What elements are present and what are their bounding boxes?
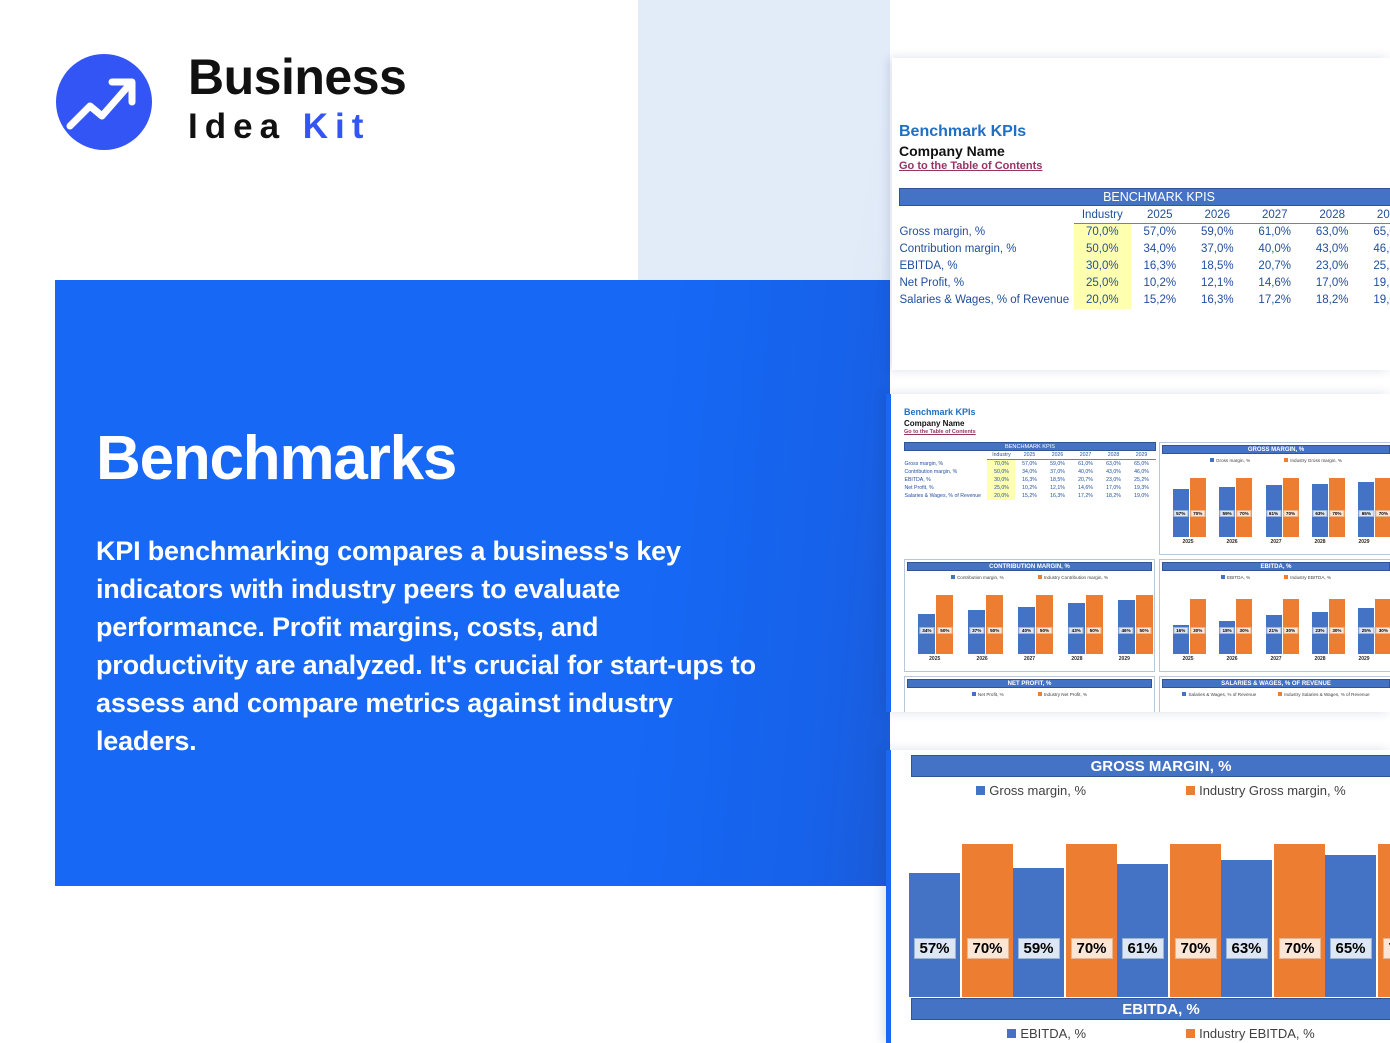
kpi-column-header-2029: 2029: [1127, 452, 1155, 460]
chart-x-tick: 2028: [1298, 539, 1342, 545]
chart-data-label: 70%: [1174, 938, 1216, 959]
kpi-row[interactable]: Net Profit, %25,0%10,2%12,1%14,6%17,0%19…: [905, 484, 1156, 492]
legend-swatch-company: [1007, 1029, 1016, 1038]
chart-data-label: 30%: [1190, 627, 1205, 634]
chart-title: GROSS MARGIN, %: [911, 755, 1390, 777]
chart-group: 23%30%: [1305, 588, 1351, 654]
kpi-cell-value[interactable]: 20,7%: [1246, 258, 1303, 275]
legend-item-industry: Industry Contribution margin, %: [1038, 575, 1108, 580]
chart-bar-company[interactable]: 59%: [1013, 868, 1064, 997]
chart-data-label: 30%: [1376, 627, 1390, 634]
chart-x-tick: 2027: [1254, 539, 1298, 545]
chart-data-label: 37%: [969, 627, 984, 634]
chart-bar-company[interactable]: 63%: [1221, 860, 1272, 997]
chart-bar-company[interactable]: 57%: [1173, 489, 1189, 537]
sheet-subtitle-top: Company Name: [899, 143, 1005, 159]
legend-swatch-industry: [1284, 458, 1288, 462]
chart-bar-industry[interactable]: 70%: [1274, 844, 1325, 997]
chart-data-label: 59%: [1220, 510, 1235, 517]
kpi-row[interactable]: Net Profit, %25,0%10,2%12,1%14,6%17,0%19…: [900, 275, 1390, 292]
kpi-cell-value[interactable]: 46,0%: [1127, 468, 1155, 476]
brand-line-2-accent: Kit: [303, 107, 371, 146]
kpi-cell-industry[interactable]: 70,0%: [1074, 224, 1131, 241]
kpi-row[interactable]: EBITDA, %30,0%16,3%18,5%20,7%23,0%25,2%: [900, 258, 1390, 275]
chart-legend: Gross margin, %Industry Gross margin, %: [1160, 456, 1390, 464]
kpi-row[interactable]: Salaries & Wages, % of Revenue20,0%15,2%…: [905, 492, 1156, 500]
legend-swatch-company: [976, 786, 985, 795]
kpi-cell-value[interactable]: 20,7%: [1071, 476, 1099, 484]
kpi-cell-value[interactable]: 17,2%: [1246, 292, 1303, 309]
spreadsheet-panel-top[interactable]: Benchmark KPIs Company Name Go to the Ta…: [892, 58, 1390, 370]
chart-title: SALARIES & WAGES, % OF REVENUE: [1162, 679, 1390, 688]
kpi-cell-value[interactable]: 57,0%: [1015, 460, 1043, 468]
kpi-cell-value[interactable]: 43,0%: [1303, 241, 1360, 258]
kpi-header-row: Industry20252026202720282029: [905, 452, 1156, 460]
legend-swatch-industry: [1278, 692, 1282, 696]
chart-bar-company[interactable]: 43%: [1068, 603, 1085, 654]
legend-swatch-company: [1210, 458, 1214, 462]
kpi-row[interactable]: Salaries & Wages, % of Revenue20,0%15,2%…: [900, 292, 1390, 309]
legend-swatch-industry: [1186, 1029, 1195, 1038]
legend-label: Industry EBITDA, %: [1199, 1026, 1315, 1041]
chart-bar-company[interactable]: 18%: [1219, 621, 1235, 654]
kpi-row-label: Gross margin, %: [900, 224, 1074, 241]
kpi-row[interactable]: Gross margin, %70,0%57,0%59,0%61,0%63,0%…: [905, 460, 1156, 468]
kpi-cell-value[interactable]: 37,0%: [1043, 468, 1071, 476]
kpi-cell-value[interactable]: 15,2%: [1131, 292, 1188, 309]
legend-label: Gross margin, %: [989, 783, 1086, 798]
kpi-cell-value[interactable]: 17,0%: [1099, 484, 1127, 492]
chart-data-label: 65%: [1359, 510, 1374, 517]
kpi-column-header-2025: 2025: [1131, 207, 1188, 224]
chart-data-label: 21%: [1266, 627, 1281, 634]
kpi-cell-value[interactable]: 40,0%: [1071, 468, 1099, 476]
chart-data-label: 70%: [1237, 510, 1252, 517]
chart-legend: EBITDA, %Industry EBITDA, %: [901, 1024, 1390, 1042]
chart-x-axis: 20252026202720282029: [1166, 656, 1386, 662]
kpi-cell-value[interactable]: 34,0%: [1131, 241, 1188, 258]
chart-x-tick: 2029: [1342, 656, 1386, 662]
kpi-cell-value[interactable]: 63,0%: [1099, 460, 1127, 468]
kpi-cell-value[interactable]: 23,0%: [1099, 476, 1127, 484]
chart-bar-industry[interactable]: 50%: [1136, 595, 1153, 654]
chart-x-tick: 2026: [1210, 656, 1254, 662]
chart-bar-industry[interactable]: 30%: [1329, 599, 1345, 654]
brand-line-1: Business: [188, 48, 406, 106]
kpi-cell-value[interactable]: 12,1%: [1189, 275, 1246, 292]
kpi-column-header-2025: 2025: [1015, 452, 1043, 460]
legend-label: Contribution margin, %: [957, 575, 1004, 580]
chart-bar-company[interactable]: 37%: [968, 610, 985, 654]
sheet-title-top: Benchmark KPIs: [899, 123, 1026, 141]
kpi-column-header-industry: Industry: [987, 452, 1015, 460]
kpi-table-middle-body: BENCHMARK KPISIndustry202520262027202820…: [905, 443, 1156, 500]
chart-data-label: 34%: [919, 627, 934, 634]
chart-bar-industry[interactable]: 70%: [1329, 478, 1345, 537]
kpi-cell-value[interactable]: 37,0%: [1189, 241, 1246, 258]
brand-line-2-main: Idea: [188, 107, 303, 146]
chart-group: 59%70%: [1212, 471, 1258, 537]
chart-data-label: 70%: [1190, 510, 1205, 517]
chart-bar-company[interactable]: 65%: [1358, 482, 1374, 537]
legend-item-company: Gross margin, %: [976, 783, 1086, 798]
kpi-cell-value[interactable]: 25,2%: [1127, 476, 1155, 484]
legend-swatch-industry: [1038, 575, 1042, 579]
kpi-cell-industry[interactable]: 30,0%: [1074, 258, 1131, 275]
kpi-column-header-2026: 2026: [1189, 207, 1246, 224]
chart-data-label: 70%: [1382, 938, 1390, 959]
legend-swatch-industry: [1284, 575, 1288, 579]
sheet-subtitle-middle: Company Name: [904, 419, 964, 428]
kpi-cell-industry[interactable]: 30,0%: [987, 476, 1015, 484]
chart-x-axis: 20252026202720282029: [911, 656, 1148, 662]
chart-bar-company[interactable]: 16%: [1173, 625, 1189, 654]
kpi-cell-value[interactable]: 43,0%: [1099, 468, 1127, 476]
legend-label: Industry Salaries & Wages, % of Revenue: [1284, 692, 1369, 697]
chart-data-label: 30%: [1237, 627, 1252, 634]
kpi-cell-value[interactable]: 15,2%: [1015, 492, 1043, 500]
chart-x-axis: 20252026202720282029: [1166, 539, 1386, 545]
chart-data-label: 61%: [1266, 510, 1281, 517]
chart-group: 63%70%: [1221, 827, 1325, 997]
chart-data-label: 50%: [987, 627, 1002, 634]
kpi-cell-value[interactable]: 10,2%: [1131, 275, 1188, 292]
chart-salaries-wages-mini[interactable]: SALARIES & WAGES, % OF REVENUESalaries &…: [1159, 676, 1390, 712]
chart-gross-margin-mini[interactable]: GROSS MARGIN, %Gross margin, %Industry G…: [1159, 442, 1390, 555]
chart-bar-industry[interactable]: 50%: [1036, 595, 1053, 654]
chart-data-label: 70%: [1278, 938, 1320, 959]
legend-label: Industry Gross margin, %: [1199, 783, 1346, 798]
chart-bar-industry[interactable]: 50%: [936, 595, 953, 654]
chart-legend: Net Profit, %Industry Net Profit, %: [905, 690, 1154, 698]
brand-logo: Business Idea Kit: [56, 48, 446, 158]
chart-data-label: 63%: [1225, 938, 1267, 959]
kpi-cell-value[interactable]: 65,0%: [1361, 224, 1390, 241]
chart-data-label: 25%: [1359, 627, 1374, 634]
kpi-banner: BENCHMARK KPIS: [900, 189, 1390, 206]
chart-ebitda-large[interactable]: EBITDA, %EBITDA, %Industry EBITDA, %: [901, 998, 1390, 1043]
chart-bar-company[interactable]: 61%: [1117, 864, 1168, 997]
chart-group: 57%70%: [909, 827, 1013, 997]
kpi-cell-value[interactable]: 16,3%: [1043, 492, 1071, 500]
kpi-cell-value[interactable]: 18,5%: [1043, 476, 1071, 484]
kpi-banner: BENCHMARK KPIS: [905, 443, 1156, 451]
chart-title: CONTRIBUTION MARGIN, %: [907, 562, 1152, 571]
chart-data-label: 70%: [1283, 510, 1298, 517]
chart-title: EBITDA, %: [1162, 562, 1390, 571]
legend-item-industry: Industry Gross margin, %: [1284, 458, 1342, 463]
chart-data-label: 61%: [1121, 938, 1163, 959]
chart-x-tick: 2028: [1298, 656, 1342, 662]
kpi-cell-value[interactable]: 18,2%: [1099, 492, 1127, 500]
chart-group: 63%70%: [1305, 471, 1351, 537]
kpi-column-header-2026: 2026: [1043, 452, 1071, 460]
kpi-cell-industry[interactable]: 70,0%: [987, 460, 1015, 468]
chart-bar-company[interactable]: 57%: [909, 873, 960, 997]
legend-label: Industry EBITDA, %: [1290, 575, 1331, 580]
kpi-cell-value[interactable]: 46,0%: [1361, 241, 1390, 258]
spreadsheet-panel-middle[interactable]: Benchmark KPIs Company Name Go to the Ta…: [886, 394, 1390, 712]
chart-data-label: 46%: [1118, 627, 1133, 634]
kpi-cell-value[interactable]: 61,0%: [1071, 460, 1099, 468]
kpi-cell-industry[interactable]: 50,0%: [987, 468, 1015, 476]
legend-label: Gross margin, %: [1216, 458, 1250, 463]
kpi-cell-value[interactable]: 17,0%: [1303, 275, 1360, 292]
legend-swatch-company: [1221, 575, 1225, 579]
chart-bar-industry[interactable]: 70%: [1378, 844, 1390, 997]
legend-item-industry: Industry Net Profit, %: [1038, 692, 1087, 697]
legend-label: EBITDA, %: [1227, 575, 1250, 580]
chart-bar-industry[interactable]: 50%: [986, 595, 1003, 654]
page-description: KPI benchmarking compares a business's k…: [96, 532, 756, 760]
chart-bar-company[interactable]: 40%: [1018, 607, 1035, 654]
kpi-column-header-2027: 2027: [1071, 452, 1099, 460]
chart-group: 18%30%: [1212, 588, 1258, 654]
kpi-banner-row: BENCHMARK KPIS: [905, 443, 1156, 451]
chart-bar-company[interactable]: 34%: [918, 614, 935, 654]
kpi-cell-value[interactable]: 10,2%: [1015, 484, 1043, 492]
chart-group: 37%50%: [961, 588, 1011, 654]
kpi-cell-value[interactable]: 16,3%: [1189, 292, 1246, 309]
chart-bar-industry[interactable]: 70%: [1236, 478, 1252, 537]
kpi-header-corner: [905, 452, 988, 460]
kpi-column-header-industry: Industry: [1074, 207, 1131, 224]
chart-bar-industry[interactable]: 70%: [1066, 844, 1117, 997]
legend-swatch-company: [972, 692, 976, 696]
kpi-cell-value[interactable]: 18,5%: [1189, 258, 1246, 275]
chart-title: EBITDA, %: [911, 998, 1390, 1020]
chart-legend: Gross margin, %Industry Gross margin, %: [901, 781, 1390, 799]
kpi-header-row: Industry20252026202720282029: [900, 207, 1390, 224]
kpi-cell-value[interactable]: 19,3%: [1127, 484, 1155, 492]
kpi-column-header-2029: 2029: [1361, 207, 1390, 224]
kpi-cell-industry[interactable]: 50,0%: [1074, 241, 1131, 258]
chart-group: 43%50%: [1060, 588, 1110, 654]
chart-bar-industry[interactable]: 70%: [1170, 844, 1221, 997]
chart-group: 57%70%: [1166, 471, 1212, 537]
kpi-cell-value[interactable]: 16,3%: [1015, 476, 1043, 484]
chart-data-label: 30%: [1329, 627, 1344, 634]
kpi-cell-value[interactable]: 18,2%: [1303, 292, 1360, 309]
kpi-cell-value[interactable]: 59,0%: [1043, 460, 1071, 468]
kpi-row[interactable]: Contribution margin, %50,0%34,0%37,0%40,…: [905, 468, 1156, 476]
brand-line-2: Idea Kit: [188, 106, 406, 148]
kpi-row-label: Salaries & Wages, % of Revenue: [905, 492, 988, 500]
chart-bar-industry[interactable]: 30%: [1190, 599, 1206, 654]
chart-plot-area: 16%30%18%30%21%30%23%30%25%30%: [1166, 588, 1390, 654]
kpi-cell-value[interactable]: 63,0%: [1303, 224, 1360, 241]
legend-label: EBITDA, %: [1020, 1026, 1086, 1041]
chart-bar-industry[interactable]: 70%: [962, 844, 1013, 997]
chart-group: 61%70%: [1259, 471, 1305, 537]
chart-x-tick: 2027: [1254, 656, 1298, 662]
chart-data-label: 16%: [1173, 627, 1188, 634]
chart-group: 21%30%: [1259, 588, 1305, 654]
kpi-cell-value[interactable]: 19,0%: [1361, 292, 1390, 309]
kpi-cell-value[interactable]: 23,0%: [1303, 258, 1360, 275]
chart-x-tick: 2029: [1101, 656, 1148, 662]
chart-bar-company[interactable]: 25%: [1358, 608, 1374, 654]
chart-bar-industry[interactable]: 30%: [1283, 599, 1299, 654]
chart-x-tick: 2025: [1166, 539, 1210, 545]
chart-data-label: 50%: [1087, 627, 1102, 634]
kpi-cell-value[interactable]: 34,0%: [1015, 468, 1043, 476]
kpi-cell-industry[interactable]: 20,0%: [987, 492, 1015, 500]
kpi-cell-value[interactable]: 59,0%: [1189, 224, 1246, 241]
kpi-header-corner: [900, 207, 1074, 224]
kpi-row-label: Gross margin, %: [905, 460, 988, 468]
kpi-row-label: EBITDA, %: [900, 258, 1074, 275]
kpi-cell-industry[interactable]: 20,0%: [1074, 292, 1131, 309]
kpi-cell-value[interactable]: 61,0%: [1246, 224, 1303, 241]
legend-swatch-industry: [1186, 786, 1195, 795]
kpi-cell-value[interactable]: 65,0%: [1127, 460, 1155, 468]
kpi-cell-value[interactable]: 19,3%: [1361, 275, 1390, 292]
chart-bar-company[interactable]: 61%: [1266, 485, 1282, 537]
kpi-cell-industry[interactable]: 25,0%: [1074, 275, 1131, 292]
chart-x-tick: 2025: [911, 656, 958, 662]
kpi-row-label: Contribution margin, %: [905, 468, 988, 476]
chart-group: 59%70%: [1013, 827, 1117, 997]
kpi-cell-value[interactable]: 57,0%: [1131, 224, 1188, 241]
chart-data-label: 18%: [1220, 627, 1235, 634]
kpi-row-label: EBITDA, %: [905, 476, 988, 484]
chart-title: GROSS MARGIN, %: [1162, 445, 1390, 454]
legend-label: Net Profit, %: [978, 692, 1004, 697]
chart-group: 46%50%: [1110, 588, 1160, 654]
legend-swatch-industry: [1038, 692, 1042, 696]
chart-x-tick: 2028: [1053, 656, 1100, 662]
chart-group: 34%50%: [911, 588, 961, 654]
kpi-row-label: Contribution margin, %: [900, 241, 1074, 258]
legend-item-company: Salaries & Wages, % of Revenue: [1182, 692, 1256, 697]
chart-gross-margin-large[interactable]: GROSS MARGIN, %Gross margin, %Industry G…: [901, 755, 1390, 1015]
chart-bar-company[interactable]: 65%: [1325, 855, 1376, 997]
kpi-column-header-2028: 2028: [1099, 452, 1127, 460]
sheet-title-middle: Benchmark KPIs: [904, 407, 976, 417]
legend-item-industry: Industry EBITDA, %: [1186, 1026, 1315, 1041]
chart-data-label: 23%: [1312, 627, 1327, 634]
legend-item-company: Net Profit, %: [972, 692, 1004, 697]
legend-item-industry: Industry EBITDA, %: [1284, 575, 1331, 580]
chart-group: 16%30%: [1166, 588, 1212, 654]
kpi-banner-row: BENCHMARK KPIS: [900, 189, 1390, 206]
chart-bar-company[interactable]: 63%: [1312, 484, 1328, 537]
chart-group: 25%30%: [1352, 588, 1390, 654]
kpi-cell-industry[interactable]: 25,0%: [987, 484, 1015, 492]
chart-x-tick: 2026: [1210, 539, 1254, 545]
legend-item-company: EBITDA, %: [1007, 1026, 1086, 1041]
kpi-cell-value[interactable]: 14,6%: [1071, 484, 1099, 492]
chart-data-label: 70%: [1329, 510, 1344, 517]
chart-legend: EBITDA, %Industry EBITDA, %: [1160, 573, 1390, 581]
page-title: Benchmarks: [96, 424, 456, 494]
chart-bar-industry[interactable]: 70%: [1283, 478, 1299, 537]
chart-data-label: 65%: [1329, 938, 1371, 959]
chart-x-tick: 2026: [958, 656, 1005, 662]
chart-data-label: 70%: [1376, 510, 1390, 517]
legend-label: Industry Net Profit, %: [1044, 692, 1087, 697]
chart-bar-company[interactable]: 46%: [1118, 600, 1135, 654]
kpi-row[interactable]: EBITDA, %30,0%16,3%18,5%20,7%23,0%25,2%: [905, 476, 1156, 484]
chart-group: 65%70%: [1325, 827, 1390, 997]
kpi-cell-value[interactable]: 16,3%: [1131, 258, 1188, 275]
kpi-column-header-2028: 2028: [1303, 207, 1360, 224]
chart-bar-industry[interactable]: 50%: [1086, 595, 1103, 654]
chart-bar-industry[interactable]: 30%: [1375, 599, 1390, 654]
chart-bar-industry[interactable]: 70%: [1375, 478, 1390, 537]
chart-bar-company[interactable]: 21%: [1266, 615, 1282, 654]
slide-root: Business Idea Kit Benchmarks KPI benchma…: [0, 0, 1390, 1043]
chart-data-label: 70%: [966, 938, 1008, 959]
chart-bar-company[interactable]: 23%: [1312, 612, 1328, 654]
chart-group: 65%70%: [1352, 471, 1390, 537]
chart-plot-area: 34%50%37%50%40%50%43%50%46%50%: [911, 588, 1160, 654]
chart-data-label: 50%: [937, 627, 952, 634]
spreadsheet-panel-bottom[interactable]: GROSS MARGIN, %Gross margin, %Industry G…: [886, 750, 1390, 1043]
legend-swatch-company: [1182, 692, 1186, 696]
kpi-cell-value[interactable]: 12,1%: [1043, 484, 1071, 492]
toc-link-top[interactable]: Go to the Table of Contents: [899, 160, 1042, 172]
kpi-table-middle[interactable]: BENCHMARK KPISIndustry202520262027202820…: [904, 442, 1156, 500]
legend-label: Industry Gross margin, %: [1290, 458, 1342, 463]
kpi-row[interactable]: Contribution margin, %50,0%34,0%37,0%40,…: [900, 241, 1390, 258]
kpi-cell-value[interactable]: 14,6%: [1246, 275, 1303, 292]
kpi-row[interactable]: Gross margin, %70,0%57,0%59,0%61,0%63,0%…: [900, 224, 1390, 241]
legend-label: Salaries & Wages, % of Revenue: [1188, 692, 1256, 697]
legend-swatch-company: [951, 575, 955, 579]
chart-bar-industry[interactable]: 30%: [1236, 599, 1252, 654]
legend-item-company: Contribution margin, %: [951, 575, 1004, 580]
chart-data-label: 57%: [913, 938, 955, 959]
legend-item-company: EBITDA, %: [1221, 575, 1250, 580]
kpi-cell-value[interactable]: 17,2%: [1071, 492, 1099, 500]
chart-legend: Salaries & Wages, % of RevenueIndustry S…: [1160, 690, 1390, 698]
chart-plot-area: 57%70%59%70%61%70%63%70%65%70%: [909, 827, 1390, 997]
legend-item-industry: Industry Gross margin, %: [1186, 783, 1346, 798]
kpi-cell-value[interactable]: 25,2%: [1361, 258, 1390, 275]
legend-item-company: Gross margin, %: [1210, 458, 1250, 463]
chart-data-label: 57%: [1173, 510, 1188, 517]
kpi-cell-value[interactable]: 19,0%: [1127, 492, 1155, 500]
chart-x-tick: 2027: [1006, 656, 1053, 662]
kpi-table-top-body: BENCHMARK KPISIndustry202520262027202820…: [900, 189, 1390, 309]
chart-bar-industry[interactable]: 70%: [1190, 478, 1206, 537]
growth-arrow-icon: [56, 54, 152, 150]
chart-x-tick: 2025: [1166, 656, 1210, 662]
chart-net-profit-mini[interactable]: NET PROFIT, %Net Profit, %Industry Net P…: [904, 676, 1155, 712]
legend-item-industry: Industry Salaries & Wages, % of Revenue: [1278, 692, 1369, 697]
kpi-table-top[interactable]: BENCHMARK KPISIndustry202520262027202820…: [899, 188, 1390, 309]
chart-group: 61%70%: [1117, 827, 1221, 997]
chart-data-label: 50%: [1037, 627, 1052, 634]
kpi-column-header-2027: 2027: [1246, 207, 1303, 224]
chart-bar-company[interactable]: 59%: [1219, 487, 1235, 537]
kpi-row-label: Net Profit, %: [900, 275, 1074, 292]
chart-plot-area: 57%70%59%70%61%70%63%70%65%70%: [1166, 471, 1390, 537]
toc-link-middle[interactable]: Go to the Table of Contents: [904, 429, 976, 435]
legend-label: Industry Contribution margin, %: [1044, 575, 1108, 580]
brand-wordmark: Business Idea Kit: [188, 48, 406, 148]
kpi-row-label: Net Profit, %: [905, 484, 988, 492]
chart-legend: Contribution margin, %Industry Contribut…: [905, 573, 1154, 581]
chart-data-label: 70%: [1070, 938, 1112, 959]
chart-data-label: 63%: [1312, 510, 1327, 517]
chart-ebitda-mini[interactable]: EBITDA, %EBITDA, %Industry EBITDA, %16%3…: [1159, 559, 1390, 672]
kpi-row-label: Salaries & Wages, % of Revenue: [900, 292, 1074, 309]
kpi-cell-value[interactable]: 40,0%: [1246, 241, 1303, 258]
chart-contribution-margin-mini[interactable]: CONTRIBUTION MARGIN, %Contribution margi…: [904, 559, 1155, 672]
